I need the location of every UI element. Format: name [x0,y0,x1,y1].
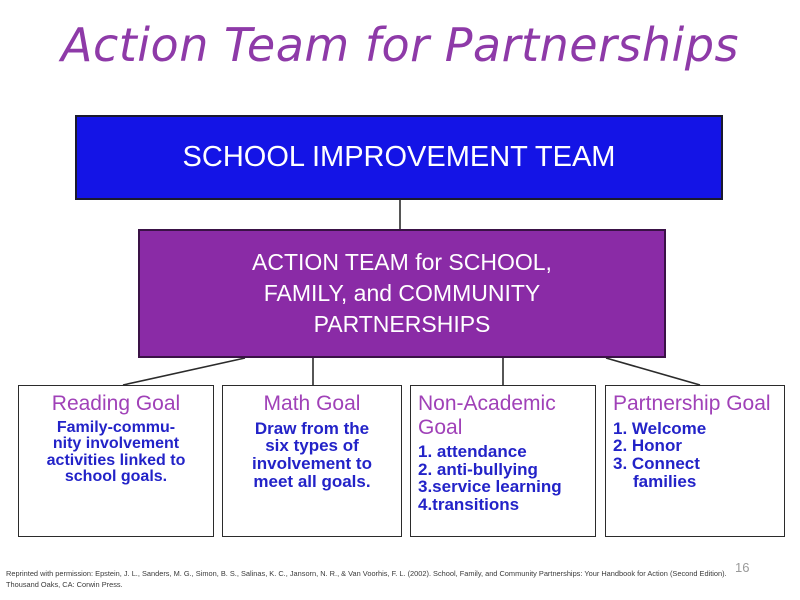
slide-canvas: Action Team for Partnerships SCHOOL IMPR… [0,0,800,600]
connector-middle-to-goal-4 [606,358,700,385]
goal-box-reading: Reading Goal Family-commu- nity involvem… [18,385,214,537]
goal-body-line: 4.transitions [418,496,588,514]
footnote-line-1: Reprinted with permission: Epstein, J. L… [6,569,726,580]
connector-middle-to-goal-1 [123,358,245,385]
goal-body-line: activities linked to [26,453,206,470]
goal-body-line: 3. Connect [613,455,777,473]
goal-body-line: school goals. [26,469,206,486]
goal-body-line: 1. Welcome [613,420,777,438]
school-improvement-team-label: SCHOOL IMPROVEMENT TEAM [183,141,616,174]
goal-box-partnership: Partnership Goal 1. Welcome 2. Honor 3. … [605,385,785,537]
goal-body-line: 2. anti-bullying [418,461,588,479]
goal-heading: Math Goal [230,392,394,416]
goal-body-line: 3.service learning [418,478,588,496]
goal-body-line: 1. attendance [418,443,588,461]
page-title: Action Team for Partnerships [0,18,800,72]
action-team-label: ACTION TEAM for SCHOOL, FAMILY, and COMM… [242,247,562,340]
goal-heading: Reading Goal [26,392,206,416]
goal-heading: Partnership Goal [613,392,777,416]
goal-body-line: Draw from the [230,420,394,438]
goal-heading: Non-Academic Goal [418,392,588,439]
goal-body-line: meet all goals. [230,473,394,491]
goal-body-line: involvement to [230,455,394,473]
footnote-citation: Reprinted with permission: Epstein, J. L… [6,569,726,590]
goal-body: Draw from the six types of involvement t… [230,420,394,491]
action-team-label-line-1: ACTION TEAM for SCHOOL, [252,249,552,275]
action-team-label-line-3: PARTNERSHIPS [314,311,491,337]
goal-body: Family-commu- nity involvement activitie… [26,420,206,487]
goal-body-line: six types of [230,437,394,455]
goal-box-non-academic: Non-Academic Goal 1. attendance 2. anti-… [410,385,596,537]
goal-box-math: Math Goal Draw from the six types of inv… [222,385,402,537]
goal-body-line: nity involvement [26,436,206,453]
goal-body-line: families [613,473,777,491]
action-team-label-line-2: FAMILY, and COMMUNITY [264,280,541,306]
goal-body-line: Family-commu- [26,420,206,437]
goal-body: 1. Welcome 2. Honor 3. Connect families [613,420,777,491]
goal-body: 1. attendance 2. anti-bullying 3.service… [418,443,588,514]
action-team-box: ACTION TEAM for SCHOOL, FAMILY, and COMM… [138,229,666,358]
goal-body-line: 2. Honor [613,437,777,455]
page-number: 16 [735,560,749,575]
footnote-line-2: Thousand Oaks, CA: Corwin Press. [6,580,726,591]
school-improvement-team-box: SCHOOL IMPROVEMENT TEAM [75,115,723,200]
